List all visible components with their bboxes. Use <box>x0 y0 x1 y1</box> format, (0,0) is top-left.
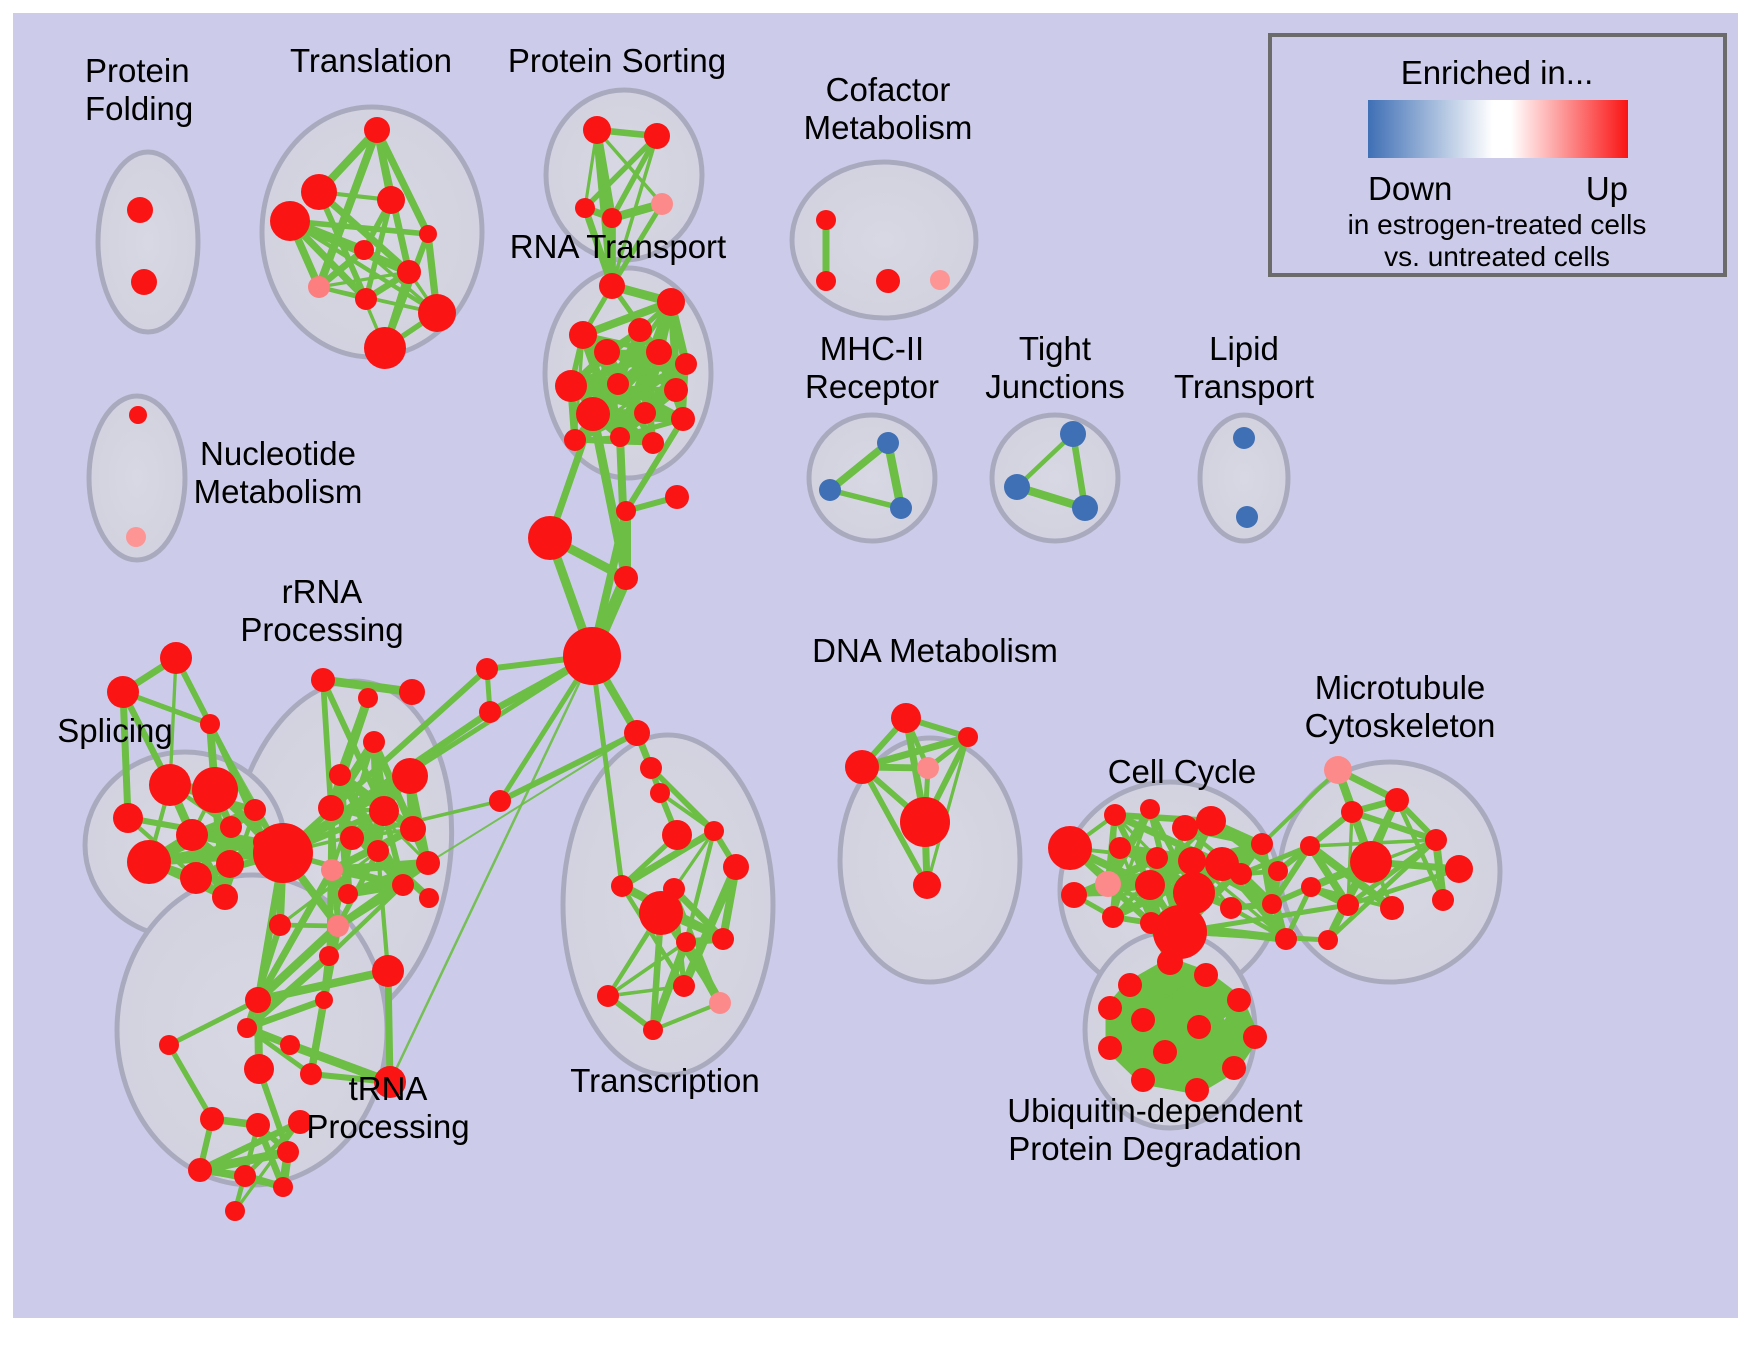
network-node <box>1268 861 1288 881</box>
cluster-label-nucleotide-metabolism: NucleotideMetabolism <box>194 435 363 510</box>
network-node <box>127 840 171 884</box>
network-node <box>126 527 146 547</box>
cluster-label-cofactor-metabolism: CofactorMetabolism <box>804 71 973 146</box>
network-node <box>664 378 688 402</box>
network-node <box>1236 506 1258 528</box>
network-node <box>364 327 406 369</box>
network-node <box>1350 841 1392 883</box>
network-node <box>321 859 343 881</box>
network-node <box>651 193 673 215</box>
network-node <box>1196 806 1226 836</box>
network-node <box>244 799 266 821</box>
network-node <box>1251 833 1273 855</box>
network-node <box>311 668 335 692</box>
network-node <box>392 758 428 794</box>
network-node <box>1300 836 1320 856</box>
network-node <box>1227 988 1251 1012</box>
cluster-hull-protein-folding <box>98 152 198 332</box>
network-node <box>675 353 697 375</box>
network-node <box>397 260 421 284</box>
network-node <box>1048 826 1092 870</box>
network-node <box>367 840 389 862</box>
network-node <box>624 720 650 746</box>
network-node <box>712 928 734 950</box>
network-canvas: ProteinFoldingTranslationProtein Sorting… <box>0 0 1750 1360</box>
network-node <box>671 407 695 431</box>
network-node <box>642 432 664 454</box>
network-node <box>355 288 377 310</box>
network-node <box>611 875 633 897</box>
network-node <box>1172 815 1198 841</box>
network-node <box>237 1018 257 1038</box>
network-node <box>363 731 385 753</box>
network-node <box>1445 855 1473 883</box>
network-node <box>597 985 619 1007</box>
network-node <box>1318 930 1338 950</box>
network-node <box>816 210 836 230</box>
network-node <box>372 955 404 987</box>
network-node <box>300 1063 322 1085</box>
network-node <box>576 397 610 431</box>
network-node <box>1131 1068 1155 1092</box>
cluster-label-splicing: Splicing <box>57 712 173 749</box>
network-node <box>644 123 670 149</box>
network-node <box>1060 421 1086 447</box>
network-node <box>1104 804 1126 826</box>
network-node <box>1385 788 1409 812</box>
network-node <box>220 816 242 838</box>
network-node <box>1098 1036 1122 1060</box>
network-node <box>1220 897 1242 919</box>
network-node <box>176 819 208 851</box>
cluster-label-protein-folding: ProteinFolding <box>85 52 193 127</box>
network-node <box>246 1113 270 1137</box>
network-node <box>569 321 597 349</box>
network-node <box>476 658 498 680</box>
network-node <box>392 874 414 896</box>
network-node <box>308 276 330 298</box>
network-node <box>877 432 899 454</box>
network-node <box>704 821 724 841</box>
cluster-label-mhc-ii-receptor: MHC-IIReceptor <box>805 330 939 405</box>
legend-subtitle-line1: in estrogen-treated cells <box>1348 209 1647 240</box>
network-node <box>131 269 157 295</box>
network-node <box>1341 801 1363 823</box>
network-node <box>159 1035 179 1055</box>
cluster-label-rna-transport: RNA Transport <box>510 228 726 265</box>
network-node <box>113 803 143 833</box>
network-node <box>245 987 271 1013</box>
network-node <box>662 820 692 850</box>
network-node <box>234 1165 256 1187</box>
legend-subtitle-line2: vs. untreated cells <box>1384 241 1610 272</box>
network-node <box>602 208 622 228</box>
network-node <box>340 826 364 850</box>
network-node <box>107 676 139 708</box>
network-node <box>200 714 220 734</box>
network-node <box>555 370 587 402</box>
network-node <box>364 117 390 143</box>
network-node <box>1301 877 1321 897</box>
network-node <box>225 1201 245 1221</box>
network-node <box>891 703 921 733</box>
network-node <box>418 294 456 332</box>
network-node <box>845 750 879 784</box>
network-node <box>639 891 683 935</box>
network-node <box>399 679 425 705</box>
cluster-label-microtubule-cytoskeleton: MicrotubuleCytoskeleton <box>1305 669 1496 744</box>
network-node <box>1146 847 1168 869</box>
network-node <box>1072 495 1098 521</box>
network-node <box>665 485 689 509</box>
network-node <box>188 1158 212 1182</box>
network-node <box>1118 973 1142 997</box>
network-node <box>129 406 147 424</box>
network-node <box>160 642 192 674</box>
network-node <box>876 269 900 293</box>
network-node <box>273 1177 293 1197</box>
network-node <box>354 240 374 260</box>
network-node <box>917 757 939 779</box>
cluster-label-cell-cycle: Cell Cycle <box>1108 753 1257 790</box>
network-node <box>369 796 399 826</box>
network-node <box>416 851 440 875</box>
network-node <box>479 701 501 723</box>
cluster-hull-cofactor-metabolism <box>792 162 976 318</box>
network-node <box>958 727 978 747</box>
network-node <box>1233 427 1255 449</box>
network-node <box>1157 949 1183 975</box>
network-node <box>1337 894 1359 916</box>
network-node <box>1135 870 1165 900</box>
network-node <box>1095 871 1121 897</box>
network-node <box>614 566 638 590</box>
network-node <box>329 764 351 786</box>
network-node <box>610 427 630 447</box>
network-node <box>280 1035 300 1055</box>
legend: Enriched in... Down Up in estrogen-treat… <box>1270 35 1725 275</box>
network-node <box>315 991 333 1009</box>
network-node <box>1262 894 1282 914</box>
network-node <box>212 884 238 910</box>
network-node <box>192 767 238 813</box>
network-node <box>816 271 836 291</box>
network-node <box>930 270 950 290</box>
network-node <box>1140 799 1160 819</box>
network-node <box>1275 928 1297 950</box>
legend-up-label: Up <box>1586 170 1628 207</box>
network-node <box>419 888 439 908</box>
cluster-label-dna-metabolism: DNA Metabolism <box>812 632 1058 669</box>
network-node <box>1004 474 1030 500</box>
network-node <box>575 198 595 218</box>
enrichment-network-figure: ProteinFoldingTranslationProtein Sorting… <box>0 0 1750 1360</box>
network-node <box>709 992 731 1014</box>
network-node <box>564 429 586 451</box>
legend-color-bar <box>1368 100 1628 158</box>
network-node <box>640 757 662 779</box>
network-edge <box>123 692 128 818</box>
network-node <box>650 783 670 803</box>
network-node <box>563 627 621 685</box>
network-node <box>1432 889 1454 911</box>
network-node <box>634 402 656 424</box>
legend-title: Enriched in... <box>1401 54 1594 91</box>
network-node <box>301 174 337 210</box>
cluster-label-transcription: Transcription <box>570 1062 760 1099</box>
network-node <box>1194 963 1218 987</box>
network-node <box>1243 1025 1267 1049</box>
network-node <box>1098 996 1122 1020</box>
network-node <box>338 884 358 904</box>
network-node <box>419 225 437 243</box>
network-node <box>628 318 652 342</box>
network-node <box>1222 1056 1246 1080</box>
network-node <box>318 795 344 821</box>
network-node <box>277 1141 299 1163</box>
network-node <box>1380 896 1404 920</box>
network-node <box>890 497 912 519</box>
network-node <box>1153 905 1207 959</box>
network-node <box>377 186 405 214</box>
network-node <box>269 914 291 936</box>
cluster-hull-mhc-ii-receptor <box>809 415 935 541</box>
network-node <box>270 201 310 241</box>
network-node <box>489 790 511 812</box>
network-node <box>1230 863 1252 885</box>
network-node <box>1131 1008 1155 1032</box>
cluster-label-translation: Translation <box>290 42 452 79</box>
cluster-label-protein-sorting: Protein Sorting <box>508 42 726 79</box>
network-node <box>1102 906 1124 928</box>
network-node <box>673 975 695 997</box>
network-node <box>616 501 636 521</box>
network-node <box>657 288 685 316</box>
network-node <box>643 1020 663 1040</box>
network-node <box>244 1054 274 1084</box>
network-node <box>327 915 349 937</box>
network-node <box>400 816 426 842</box>
network-edge <box>388 971 390 1082</box>
network-node <box>819 479 841 501</box>
network-node <box>913 871 941 899</box>
network-node <box>900 797 950 847</box>
network-node <box>358 688 378 708</box>
network-node <box>607 373 629 395</box>
network-node <box>646 339 672 365</box>
network-node <box>583 116 611 144</box>
network-node <box>528 516 572 560</box>
network-node <box>723 854 749 880</box>
legend-down-label: Down <box>1368 170 1452 207</box>
network-node <box>1061 882 1087 908</box>
network-node <box>253 823 313 883</box>
network-node <box>216 850 244 878</box>
network-node <box>599 273 625 299</box>
network-node <box>676 932 696 952</box>
network-node <box>594 339 620 365</box>
network-node <box>1187 1015 1211 1039</box>
network-node <box>1153 1040 1177 1064</box>
network-node <box>1324 756 1352 784</box>
network-node <box>1425 829 1447 851</box>
network-node <box>149 764 191 806</box>
network-node <box>200 1107 224 1131</box>
network-node <box>1109 837 1131 859</box>
network-node <box>319 946 339 966</box>
cluster-label-ubiquitin-protein-degradation: Ubiquitin-dependentProtein Degradation <box>1007 1092 1302 1167</box>
network-node <box>127 197 153 223</box>
network-node <box>1178 847 1206 875</box>
network-node <box>180 862 212 894</box>
